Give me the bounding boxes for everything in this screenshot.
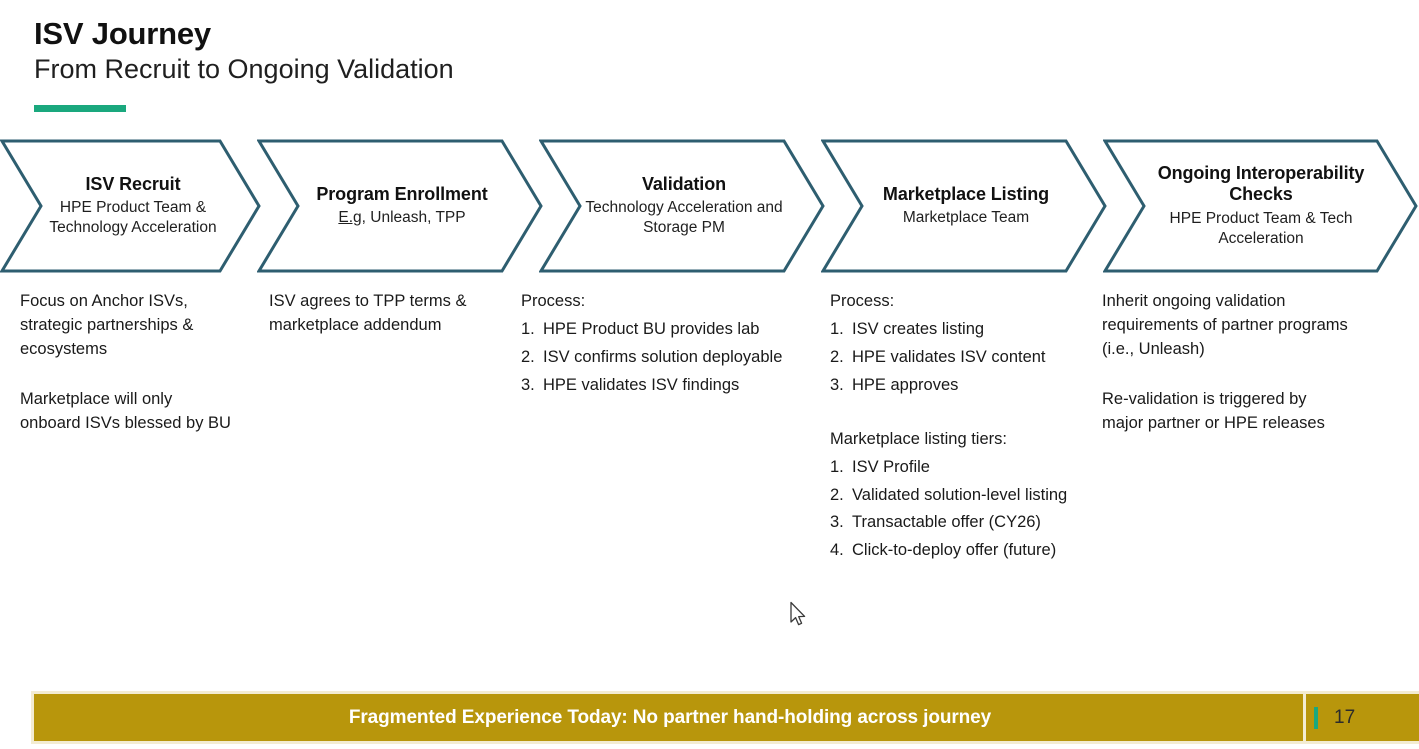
chevron-stage-3-title: Validation <box>642 174 726 195</box>
chevron-stage-2-subtitle-rest: , Unleash, TPP <box>362 209 466 226</box>
column-2-paragraph-1: ISV agrees to TPP terms & marketplace ad… <box>269 290 519 338</box>
chevron-stage-4-text: Marketplace Listing Marketplace Team <box>861 138 1071 274</box>
list-item: 2. ISV confirms solution deployable <box>521 346 826 370</box>
column-5-paragraph-2: Re-validation is triggered by major part… <box>1102 388 1392 436</box>
list-item: 4. Click-to-deploy offer (future) <box>830 539 1105 563</box>
list-item: 1. ISV Profile <box>830 456 1105 480</box>
chevron-stage-5-subtitle: HPE Product Team & Tech Acceleration <box>1170 209 1353 249</box>
spacer <box>20 362 255 388</box>
list-item-number: 2. <box>830 346 852 370</box>
list-item: 1. HPE Product BU provides lab <box>521 318 826 342</box>
list-item-text: HPE validates ISV content <box>852 346 1105 370</box>
chevron-stage-4-subtitle: Marketplace Team <box>903 208 1029 228</box>
chevron-stage-2-title: Program Enrollment <box>316 184 487 205</box>
list-item: 3. HPE approves <box>830 374 1105 398</box>
chevron-stage-3-subtitle-line1: Technology Acceleration and <box>585 199 782 216</box>
chevron-stage-2[interactable]: Program Enrollment E.g, Unleash, TPP <box>257 138 544 274</box>
list-item-text: HPE Product BU provides lab <box>543 318 826 342</box>
chevron-stage-3-text: Validation Technology Acceleration and S… <box>575 138 793 274</box>
list-item: 2. Validated solution-level listing <box>830 484 1105 508</box>
list-item-number: 1. <box>830 456 852 480</box>
chevron-stage-3[interactable]: Validation Technology Acceleration and S… <box>539 138 826 274</box>
spacer <box>830 402 1105 428</box>
process-chevron-band: ISV Recruit HPE Product Team & Technolog… <box>0 138 1419 274</box>
column-4-lead-1: Process: <box>830 290 1105 314</box>
chevron-stage-1-text: ISV Recruit HPE Product Team & Technolog… <box>38 138 228 274</box>
column-3-lead-1: Process: <box>521 290 826 314</box>
detail-columns: Focus on Anchor ISVs, strategic partners… <box>0 290 1419 660</box>
list-item-text: ISV Profile <box>852 456 1105 480</box>
list-item-number: 1. <box>830 318 852 342</box>
column-4-list-1: 1. ISV creates listing 2. HPE validates … <box>830 318 1105 398</box>
chevron-stage-1-title: ISV Recruit <box>86 174 181 195</box>
list-item-number: 4. <box>830 539 852 563</box>
column-4-list-2: 1. ISV Profile 2. Validated solution-lev… <box>830 456 1105 564</box>
column-1-paragraph-1: Focus on Anchor ISVs, strategic partners… <box>20 290 255 362</box>
chevron-stage-3-subtitle-line2: Storage PM <box>643 219 725 236</box>
list-item: 1. ISV creates listing <box>830 318 1105 342</box>
chevron-stage-5-subtitle-line2: Acceleration <box>1218 230 1303 247</box>
chevron-stage-2-subtitle: E.g, Unleash, TPP <box>338 208 465 228</box>
spacer <box>1102 362 1392 388</box>
chevron-stage-3-subtitle: Technology Acceleration and Storage PM <box>585 198 782 238</box>
list-item-number: 2. <box>521 346 543 370</box>
list-item: 3. Transactable offer (CY26) <box>830 511 1105 535</box>
column-ongoing-interoperability: Inherit ongoing validation requirements … <box>1102 290 1392 436</box>
list-item-text: HPE validates ISV findings <box>543 374 826 398</box>
chevron-stage-5-title: Ongoing Interoperability Checks <box>1158 163 1365 205</box>
chevron-stage-1[interactable]: ISV Recruit HPE Product Team & Technolog… <box>0 138 262 274</box>
chevron-stage-5-subtitle-line1: HPE Product Team & Tech <box>1170 210 1353 227</box>
chevron-stage-5[interactable]: Ongoing Interoperability Checks HPE Prod… <box>1103 138 1419 274</box>
chevron-stage-2-text: Program Enrollment E.g, Unleash, TPP <box>297 138 507 274</box>
list-item-text: Validated solution-level listing <box>852 484 1105 508</box>
page-number: 17 <box>1334 707 1355 729</box>
column-marketplace-listing: Process: 1. ISV creates listing 2. HPE v… <box>830 290 1105 567</box>
chevron-stage-1-subtitle-line2: Technology Acceleration <box>49 219 216 236</box>
list-item-text: ISV confirms solution deployable <box>543 346 826 370</box>
list-item-number: 1. <box>521 318 543 342</box>
chevron-stage-1-subtitle: HPE Product Team & Technology Accelerati… <box>49 198 216 238</box>
column-program-enrollment: ISV agrees to TPP terms & marketplace ad… <box>269 290 519 338</box>
slide-header: ISV Journey From Recruit to Ongoing Vali… <box>34 18 934 86</box>
column-1-paragraph-2: Marketplace will only onboard ISVs bless… <box>20 388 255 436</box>
chevron-stage-4-title: Marketplace Listing <box>883 184 1049 205</box>
page-title: ISV Journey <box>34 18 934 51</box>
column-validation: Process: 1. HPE Product BU provides lab … <box>521 290 826 402</box>
page-subtitle: From Recruit to Ongoing Validation <box>34 53 934 87</box>
page-number-marker: 17 <box>1306 694 1419 741</box>
chevron-stage-5-title-line1: Ongoing Interoperability <box>1158 163 1365 183</box>
chevron-stage-4[interactable]: Marketplace Listing Marketplace Team <box>821 138 1108 274</box>
chevron-stage-2-subtitle-prefix: E.g <box>338 209 361 226</box>
list-item-text: Transactable offer (CY26) <box>852 511 1105 535</box>
column-isv-recruit: Focus on Anchor ISVs, strategic partners… <box>20 290 255 436</box>
list-item-number: 3. <box>521 374 543 398</box>
list-item-number: 3. <box>830 374 852 398</box>
list-item-text: ISV creates listing <box>852 318 1105 342</box>
list-item-text: HPE approves <box>852 374 1105 398</box>
chevron-stage-5-text: Ongoing Interoperability Checks HPE Prod… <box>1137 138 1385 274</box>
list-item-number: 2. <box>830 484 852 508</box>
list-item-number: 3. <box>830 511 852 535</box>
chevron-stage-5-title-line2: Checks <box>1229 184 1292 204</box>
page-tick-icon <box>1314 707 1318 729</box>
list-item: 3. HPE validates ISV findings <box>521 374 826 398</box>
list-item-text: Click-to-deploy offer (future) <box>852 539 1105 563</box>
column-3-list-1: 1. HPE Product BU provides lab 2. ISV co… <box>521 318 826 398</box>
chevron-stage-1-subtitle-line1: HPE Product Team & <box>60 199 206 216</box>
column-4-lead-2: Marketplace listing tiers: <box>830 428 1105 452</box>
footer-banner: Fragmented Experience Today: No partner … <box>34 694 1306 741</box>
list-item: 2. HPE validates ISV content <box>830 346 1105 370</box>
accent-bar <box>34 105 126 112</box>
footer-banner-text: Fragmented Experience Today: No partner … <box>34 694 1306 741</box>
column-5-paragraph-1: Inherit ongoing validation requirements … <box>1102 290 1392 362</box>
